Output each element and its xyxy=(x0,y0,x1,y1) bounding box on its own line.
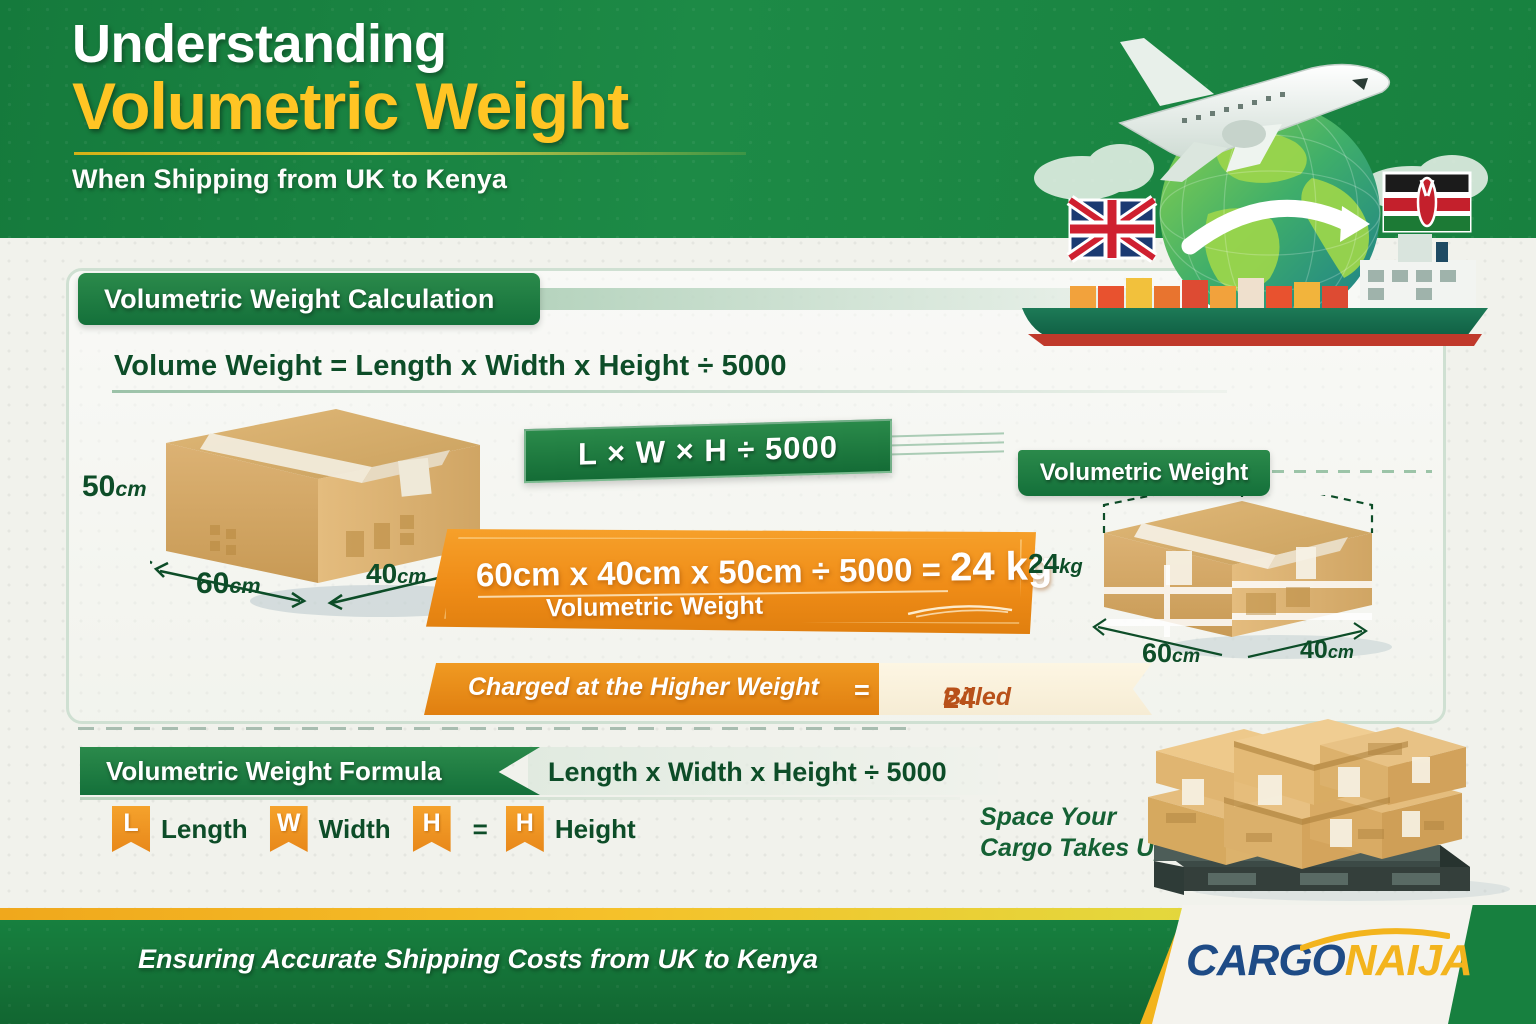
right-box-depth-dimension: 40cm xyxy=(1300,636,1354,665)
box-height-dimension: 50cm xyxy=(82,470,147,504)
calculation-equation-text: 60cm x 40cm x 50cm ÷ 5000 = xyxy=(476,551,941,594)
height-badge-b-icon: H xyxy=(506,806,544,852)
height-badge-b-letter: H xyxy=(516,809,534,838)
charged-banner: Charged at the Higher Weight = Billed at… xyxy=(424,663,1152,715)
formula-pill-lines xyxy=(884,432,1004,475)
legend-item-height-a: H xyxy=(413,806,451,852)
legend-item-length: L Length xyxy=(112,806,248,852)
formula-pill: L × W × H ÷ 5000 xyxy=(524,419,892,483)
result-swoosh-icon xyxy=(906,600,1016,618)
formula-underline xyxy=(80,797,960,800)
formula-legend: L Length W Width H = H Height xyxy=(112,806,658,852)
legend-item-height-b: H Height xyxy=(506,806,636,852)
calculation-banner: 60cm x 40cm x 50cm ÷ 5000 = 24 kg Volume… xyxy=(426,529,1036,634)
title-line-1: Understanding xyxy=(72,16,902,73)
charged-banner-text: Charged at the Higher Weight xyxy=(468,673,819,702)
infographic-page: Understanding Volumetric Weight When Shi… xyxy=(0,0,1536,1024)
charged-banner-left: Charged at the Higher Weight xyxy=(424,663,888,715)
title-underline xyxy=(74,152,746,155)
legend-equals: = xyxy=(473,814,488,845)
formula-text: Length x Width x Height ÷ 5000 xyxy=(548,757,947,788)
footer-tagline: Ensuring Accurate Shipping Costs from UK… xyxy=(138,944,818,975)
section-divider xyxy=(78,727,918,730)
volumetric-weight-value: 24kg xyxy=(1028,548,1083,580)
pallet-boxes-icon xyxy=(1140,705,1532,905)
width-badge-letter: W xyxy=(277,809,301,838)
right-panel-dash xyxy=(1272,470,1432,473)
header-subtitle: When Shipping from UK to Kenya xyxy=(72,164,902,195)
formula-pill-wrap: L × W × H ÷ 5000 xyxy=(512,418,932,490)
volumetric-weight-tab-label: Volumetric Weight xyxy=(1040,459,1248,487)
header-text-block: Understanding Volumetric Weight When Shi… xyxy=(72,16,902,195)
formula-pill-label: L × W × H ÷ 5000 xyxy=(578,429,838,472)
width-badge-icon: W xyxy=(270,806,308,852)
length-badge-letter: L xyxy=(123,809,138,838)
width-label: Width xyxy=(319,814,391,845)
shipping-illustration xyxy=(1012,28,1532,358)
calculation-tab: Volumetric Weight Calculation xyxy=(78,273,540,325)
volume-weight-equation: Volume Weight = Length x Width x Height … xyxy=(114,350,787,383)
charged-banner-right: Billed at 24 kg xyxy=(879,663,1152,715)
formula-tab-label: Volumetric Weight Formula xyxy=(106,756,442,787)
charged-banner-equals: = xyxy=(854,675,870,706)
length-badge-icon: L xyxy=(112,806,150,852)
calculation-banner-caption: Volumetric Weight xyxy=(546,592,763,624)
box-depth-dimension: 40cm xyxy=(366,558,426,590)
height-badge-a-icon: H xyxy=(413,806,451,852)
kenya-flag-icon xyxy=(1384,173,1470,231)
box-length-dimension: 60cm xyxy=(196,567,261,601)
height-label: Height xyxy=(555,814,636,845)
calculation-banner-equation: 60cm x 40cm x 50cm ÷ 5000 = 24 kg xyxy=(476,545,1017,597)
length-label: Length xyxy=(161,814,248,845)
calculation-tab-label: Volumetric Weight Calculation xyxy=(104,284,494,315)
legend-item-width: W Width xyxy=(270,806,391,852)
title-line-2: Volumetric Weight xyxy=(72,71,902,142)
volumetric-weight-tab: Volumetric Weight xyxy=(1018,450,1270,496)
equation-underline xyxy=(112,390,1227,393)
parcel-box-right-icon xyxy=(1090,495,1420,660)
height-badge-a-letter: H xyxy=(423,809,441,838)
logo-swoosh-icon xyxy=(1300,928,1450,952)
formula-tab: Volumetric Weight Formula xyxy=(80,747,540,795)
uk-flag-icon xyxy=(1070,200,1154,258)
